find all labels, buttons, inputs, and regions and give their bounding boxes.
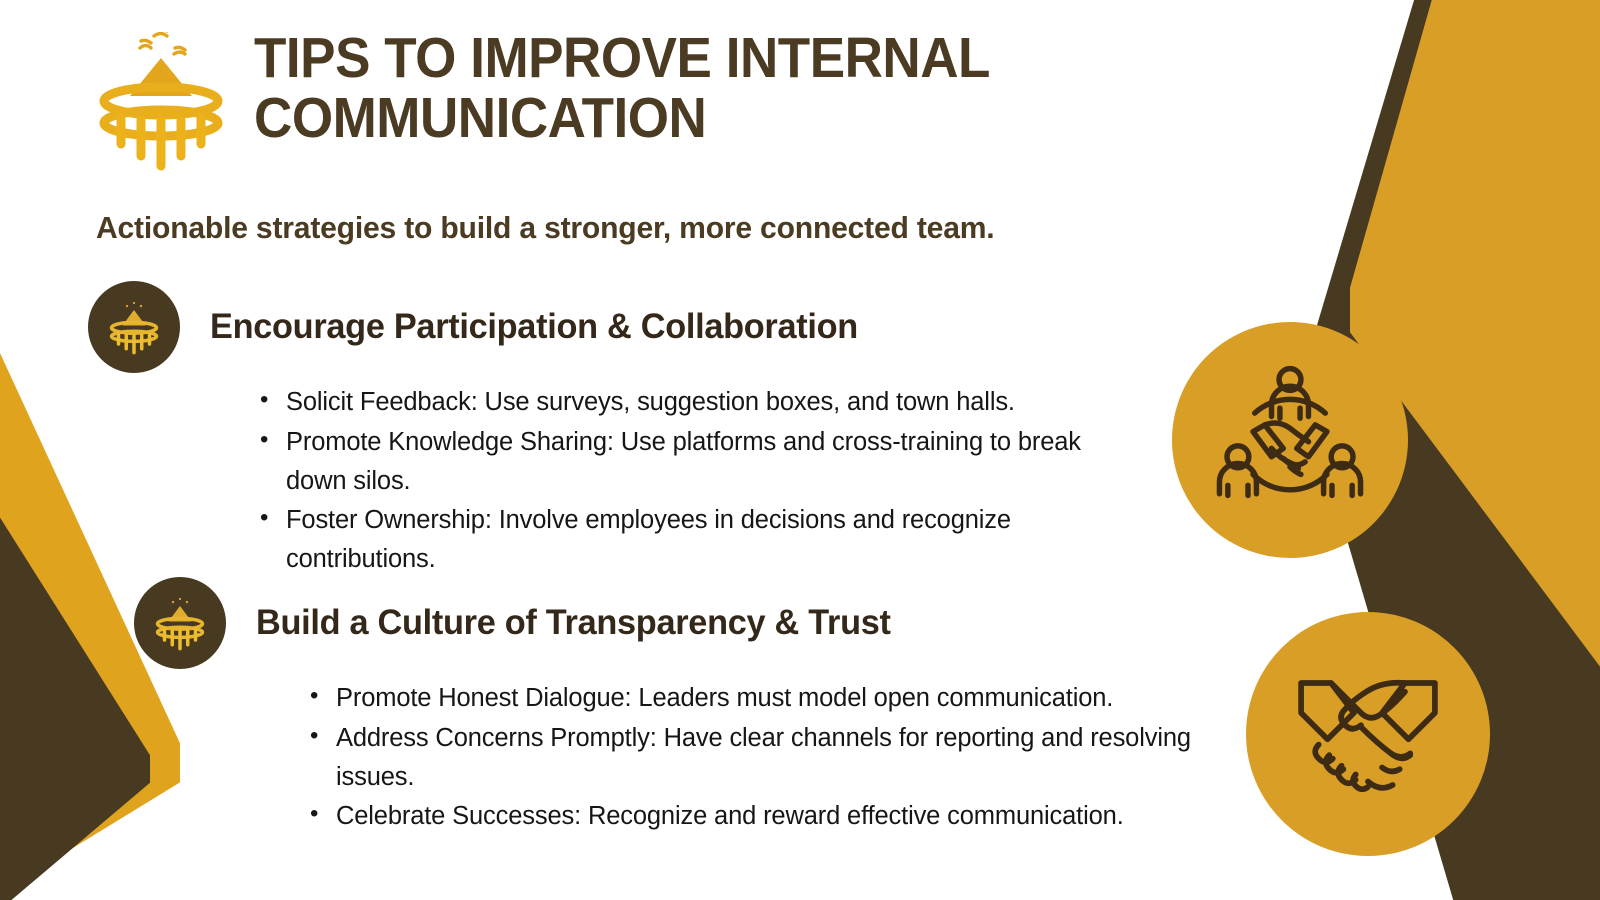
pavilion-logo-icon — [96, 32, 226, 172]
section-header: Build a Culture of Transparency & Trust — [134, 577, 1194, 669]
section-transparency-trust: Build a Culture of Transparency & Trust … — [134, 577, 1194, 837]
list-item: Solicit Feedback: Use surveys, suggestio… — [260, 383, 1146, 422]
poster-header: TIPS TO IMPROVE INTERNAL COMMUNICATION — [96, 28, 1270, 172]
list-item: Celebrate Successes: Recognize and rewar… — [310, 797, 1194, 836]
infographic-poster: TIPS TO IMPROVE INTERNAL COMMUNICATION A… — [0, 0, 1600, 900]
handshake-illustration — [1246, 612, 1490, 856]
pavilion-badge-icon — [88, 281, 180, 373]
list-item: Address Concerns Promptly: Have clear ch… — [310, 719, 1194, 797]
list-item: Foster Ownership: Involve employees in d… — [260, 501, 1146, 579]
pavilion-badge-icon — [134, 577, 226, 669]
page-subtitle: Actionable strategies to build a stronge… — [96, 210, 994, 246]
section-header: Encourage Participation & Collaboration — [88, 281, 1148, 373]
section-title: Encourage Participation & Collaboration — [210, 307, 858, 347]
list-item: Promote Honest Dialogue: Leaders must mo… — [310, 679, 1194, 718]
page-title: TIPS TO IMPROVE INTERNAL COMMUNICATION — [254, 28, 1072, 149]
section-bullet-list: Promote Honest Dialogue: Leaders must mo… — [134, 679, 1194, 836]
section-encourage-participation: Encourage Participation & Collaboration … — [88, 281, 1148, 580]
section-bullet-list: Solicit Feedback: Use surveys, suggestio… — [88, 383, 1148, 579]
list-item: Promote Knowledge Sharing: Use platforms… — [260, 423, 1146, 501]
section-title: Build a Culture of Transparency & Trust — [256, 603, 891, 643]
teamwork-handshake-illustration — [1172, 322, 1408, 558]
